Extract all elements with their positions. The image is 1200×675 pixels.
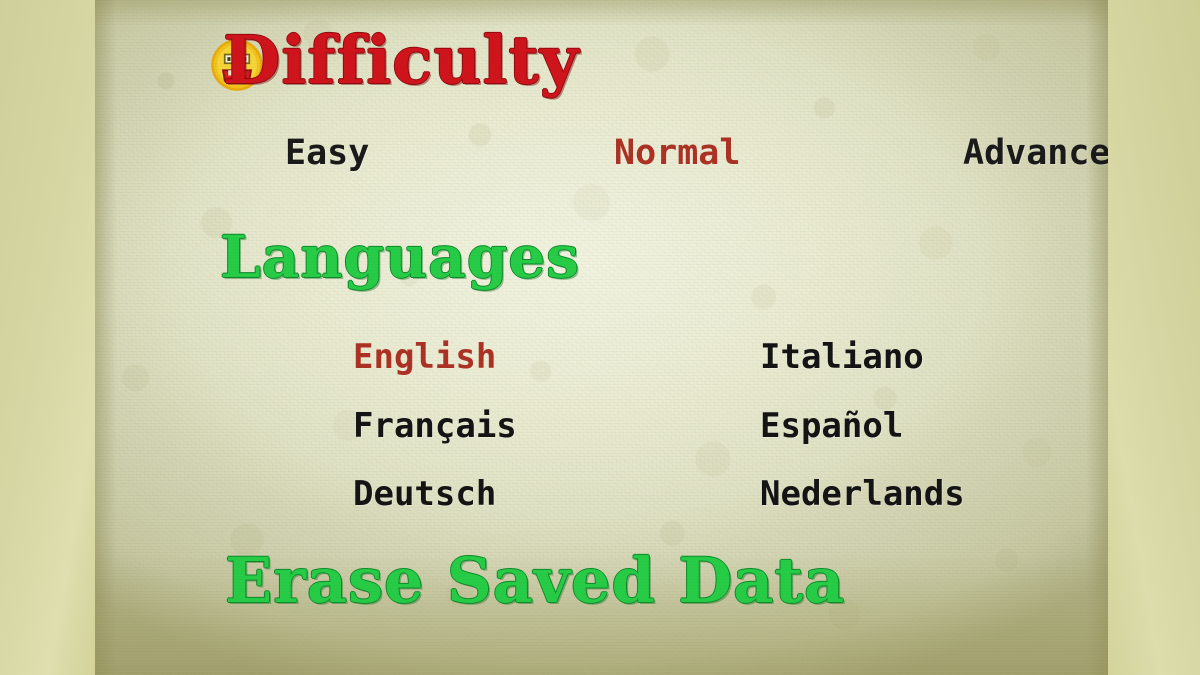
difficulty-option-normal[interactable]: Normal — [614, 136, 740, 171]
letterbox-right — [1108, 0, 1200, 675]
language-option-espanol[interactable]: Español — [760, 409, 903, 443]
difficulty-option-easy[interactable]: Easy — [285, 136, 369, 171]
letterbox-left — [0, 0, 95, 675]
language-option-nederlands[interactable]: Nederlands — [760, 477, 965, 511]
languages-heading: Languages — [220, 228, 580, 286]
game-screen: Difficulty Easy Normal Advanced Language… — [0, 0, 1200, 675]
language-option-francais[interactable]: Français — [353, 409, 517, 443]
language-option-english[interactable]: English — [353, 340, 496, 374]
game-viewport: Difficulty Easy Normal Advanced Language… — [95, 0, 1108, 675]
erase-saved-data-button[interactable]: Erase Saved Data — [225, 550, 845, 612]
difficulty-option-advanced[interactable]: Advanced — [963, 136, 1108, 171]
difficulty-heading: Difficulty — [223, 27, 579, 93]
language-option-deutsch[interactable]: Deutsch — [353, 477, 496, 511]
language-option-italiano[interactable]: Italiano — [760, 340, 924, 374]
